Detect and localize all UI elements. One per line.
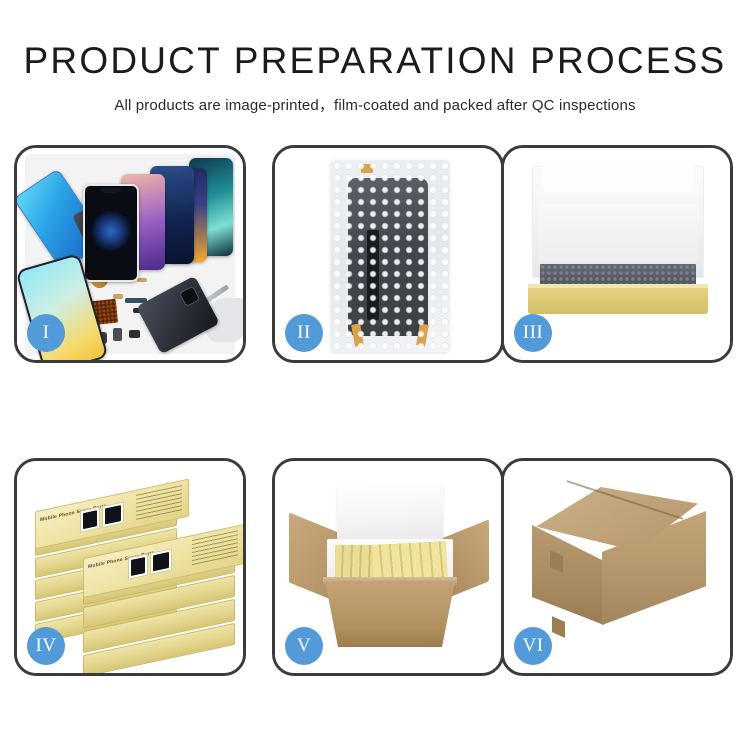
part-icon (137, 278, 147, 282)
process-step-grid: I II III (0, 140, 750, 690)
box-window-icon (80, 507, 100, 533)
foam-sheet-icon (538, 204, 698, 262)
page-subtitle: All products are image-printed，film-coat… (0, 82, 750, 115)
bubble-gloss-overlay (331, 160, 449, 352)
step-badge-3: III (514, 314, 552, 352)
box-spec-lines (136, 485, 182, 523)
box-spec-lines (192, 530, 238, 568)
step-badge-4: IV (27, 627, 65, 665)
box-window-icon (102, 501, 124, 528)
carton-tape-icon (552, 616, 565, 638)
process-step-panel-2[interactable]: II (272, 145, 504, 363)
box-window-icon (128, 553, 148, 579)
process-step-panel-4[interactable]: Mobile Phone Spare Parts Mobile Phone Sp… (14, 458, 246, 676)
foam-lid-icon (337, 483, 443, 541)
part-icon (129, 330, 140, 338)
step-badge-2: II (285, 314, 323, 352)
process-step-panel-5[interactable]: V (272, 458, 504, 676)
page-header: PRODUCT PREPARATION PROCESS All products… (0, 0, 750, 130)
flex-cable-icon (113, 294, 123, 299)
process-step-panel-1[interactable]: I (14, 145, 246, 363)
bubble-wrap-package-icon (331, 160, 449, 352)
step-badge-1: I (27, 314, 65, 352)
step-badge-6: VI (514, 627, 552, 665)
process-step-panel-6[interactable]: VI (501, 458, 733, 676)
box-front-panel-icon (528, 288, 708, 314)
page-title: PRODUCT PREPARATION PROCESS (0, 0, 750, 82)
carton-body-icon (325, 581, 455, 647)
part-icon (113, 328, 122, 341)
box-window-icon (150, 548, 172, 575)
phone-screen-front-icon (83, 184, 139, 282)
step-badge-5: V (285, 627, 323, 665)
process-step-panel-3[interactable]: III (501, 145, 733, 363)
